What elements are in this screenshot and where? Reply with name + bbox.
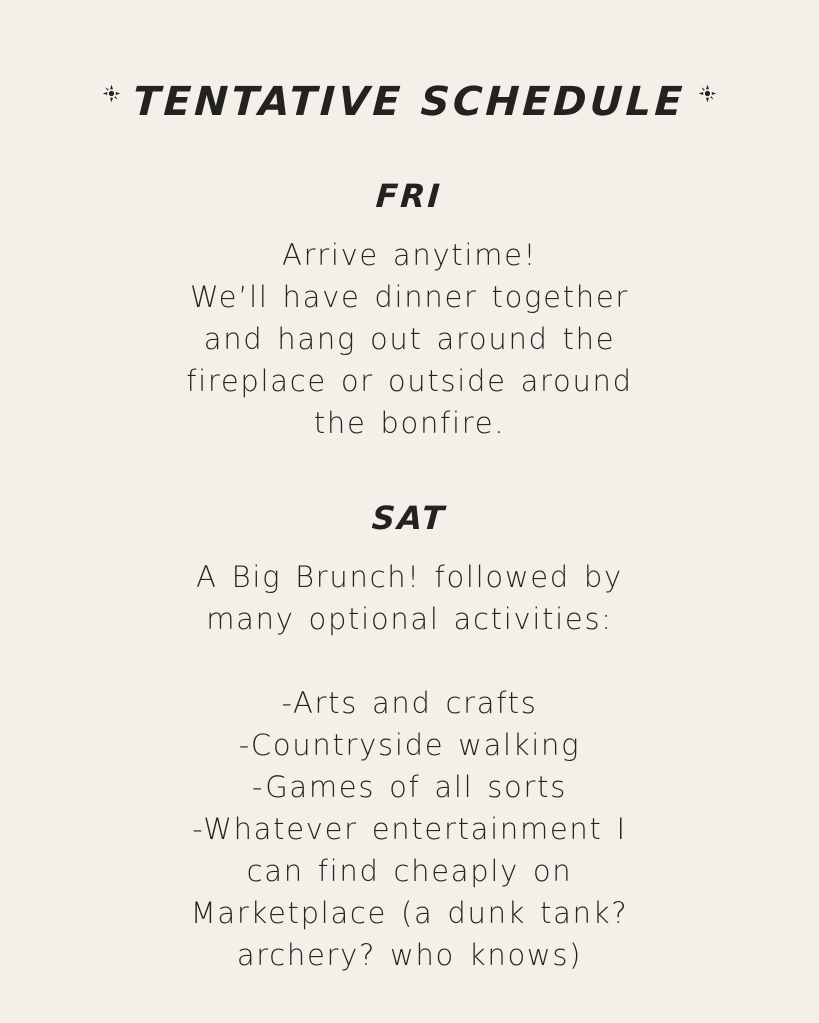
- saturday-details: A Big Brunch! followed by many optional …: [90, 556, 730, 640]
- list-item: -Arts and crafts: [90, 682, 730, 724]
- list-item: can find cheaply on: [90, 850, 730, 892]
- schedule-line: and hang out around the: [90, 318, 730, 360]
- list-item: -Countryside walking: [90, 724, 730, 766]
- sparkle-asterisk-icon: [698, 84, 717, 103]
- list-item: Marketplace (a dunk tank?: [90, 892, 730, 934]
- list-item: archery? who knows): [90, 934, 730, 976]
- sparkle-asterisk-icon: [102, 84, 121, 103]
- page-title-text: TENTATIVE SCHEDULE: [132, 82, 687, 122]
- schedule-line: many optional activities:: [90, 598, 730, 640]
- schedule-line: Arrive anytime!: [90, 234, 730, 276]
- friday-details: Arrive anytime! We’ll have dinner togeth…: [90, 234, 730, 444]
- day-heading-fri: FRI: [375, 180, 443, 212]
- schedule-card: TENTATIVE SCHEDULE FRI Arrive anytime! W…: [0, 0, 819, 1023]
- page-title: TENTATIVE SCHEDULE: [102, 82, 716, 122]
- activities-list: -Arts and crafts -Countryside walking -G…: [90, 682, 730, 976]
- schedule-line: A Big Brunch! followed by: [90, 556, 730, 598]
- schedule-line: We’ll have dinner together: [90, 276, 730, 318]
- schedule-line: fireplace or outside around: [90, 360, 730, 402]
- list-item: -Whatever entertainment I: [90, 808, 730, 850]
- schedule-line: the bonfire.: [90, 402, 730, 444]
- list-item: -Games of all sorts: [90, 766, 730, 808]
- day-heading-sat: SAT: [371, 502, 448, 534]
